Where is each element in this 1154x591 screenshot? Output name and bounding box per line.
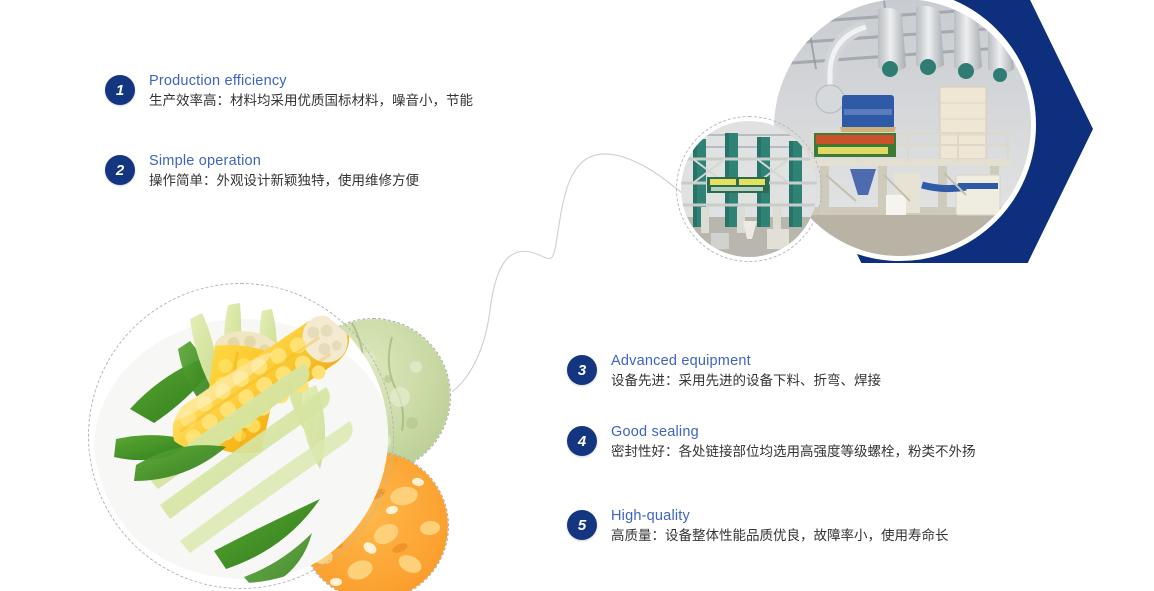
feature-badge-5: 5 (567, 510, 597, 540)
feature-heading-4: Good sealing (611, 424, 976, 441)
feature-heading-5: High-quality (611, 508, 949, 525)
corn-cob-photo-frame (88, 283, 394, 589)
corn-cob-photo (94, 289, 388, 583)
factory-small-photo (681, 121, 817, 257)
feature-body-2: 操作简单：外观设计新颖独特，使用维修方便 (149, 172, 419, 191)
feature-item-1[interactable]: 1 Production efficiency 生产效率高：材料均采用优质国标材… (105, 73, 473, 111)
feature-text-5: High-quality 高质量：设备整体性能品质优良，故障率小，使用寿命长 (611, 508, 949, 546)
feature-body-5: 高质量：设备整体性能品质优良，故障率小，使用寿命长 (611, 527, 949, 546)
feature-badge-2: 2 (105, 155, 135, 185)
feature-badge-4: 4 (567, 426, 597, 456)
feature-body-3: 设备先进：采用先进的设备下料、折弯、焊接 (611, 372, 881, 391)
hexagon-photo-group (796, 0, 1096, 270)
feature-item-2[interactable]: 2 Simple operation 操作简单：外观设计新颖独特，使用维修方便 (105, 153, 419, 191)
feature-heading-3: Advanced equipment (611, 353, 881, 370)
feature-item-4[interactable]: 4 Good sealing 密封性好：各处链接部位均选用高强度等级螺栓，粉类不… (567, 424, 976, 462)
feature-item-5[interactable]: 5 High-quality 高质量：设备整体性能品质优良，故障率小，使用寿命长 (567, 508, 949, 546)
feature-text-3: Advanced equipment 设备先进：采用先进的设备下料、折弯、焊接 (611, 353, 881, 391)
feature-heading-2: Simple operation (149, 153, 419, 170)
feature-text-2: Simple operation 操作简单：外观设计新颖独特，使用维修方便 (149, 153, 419, 191)
feature-text-4: Good sealing 密封性好：各处链接部位均选用高强度等级螺栓，粉类不外扬 (611, 424, 976, 462)
feature-badge-1: 1 (105, 75, 135, 105)
feature-body-4: 密封性好：各处链接部位均选用高强度等级螺栓，粉类不外扬 (611, 443, 976, 462)
feature-body-1: 生产效率高：材料均采用优质国标材料，噪音小，节能 (149, 92, 473, 111)
feature-item-3[interactable]: 3 Advanced equipment 设备先进：采用先进的设备下料、折弯、焊… (567, 353, 881, 391)
feature-heading-1: Production efficiency (149, 73, 473, 90)
factory-small-photo-frame (676, 116, 822, 262)
feature-text-1: Production efficiency 生产效率高：材料均采用优质国标材料，… (149, 73, 473, 111)
poster-canvas: 1 Production efficiency 生产效率高：材料均采用优质国标材… (0, 0, 1154, 591)
feature-badge-3: 3 (567, 355, 597, 385)
